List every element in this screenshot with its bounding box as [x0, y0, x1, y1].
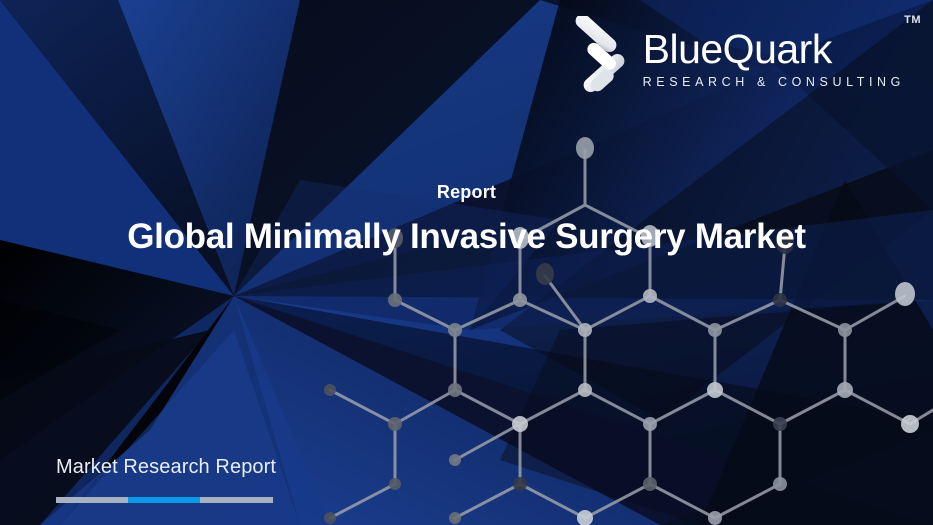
accent-rule-segment-center	[128, 497, 200, 503]
accent-rule-segment-left	[56, 497, 128, 503]
accent-rule	[56, 497, 273, 503]
brand-tagline: RESEARCH & CONSULTING	[643, 74, 905, 90]
page-title: Global Minimally Invasive Surgery Market	[0, 217, 933, 257]
brand-name: BlueQuark	[643, 27, 905, 72]
report-cover-page: TM BlueQuark RESEARCH & CONSULTING	[0, 0, 933, 525]
trademark-symbol: TM	[904, 14, 921, 26]
brand-wordmark: BlueQuark RESEARCH & CONSULTING	[643, 16, 905, 90]
footer-label: Market Research Report	[56, 456, 276, 479]
bluequark-chevron-mark-icon	[575, 16, 637, 100]
accent-rule-segment-right	[200, 497, 273, 503]
report-kicker: Report	[0, 182, 933, 203]
brand-logo: BlueQuark RESEARCH & CONSULTING	[575, 16, 905, 100]
footer-block: Market Research Report	[56, 456, 276, 503]
title-block: Report Global Minimally Invasive Surgery…	[0, 182, 933, 257]
